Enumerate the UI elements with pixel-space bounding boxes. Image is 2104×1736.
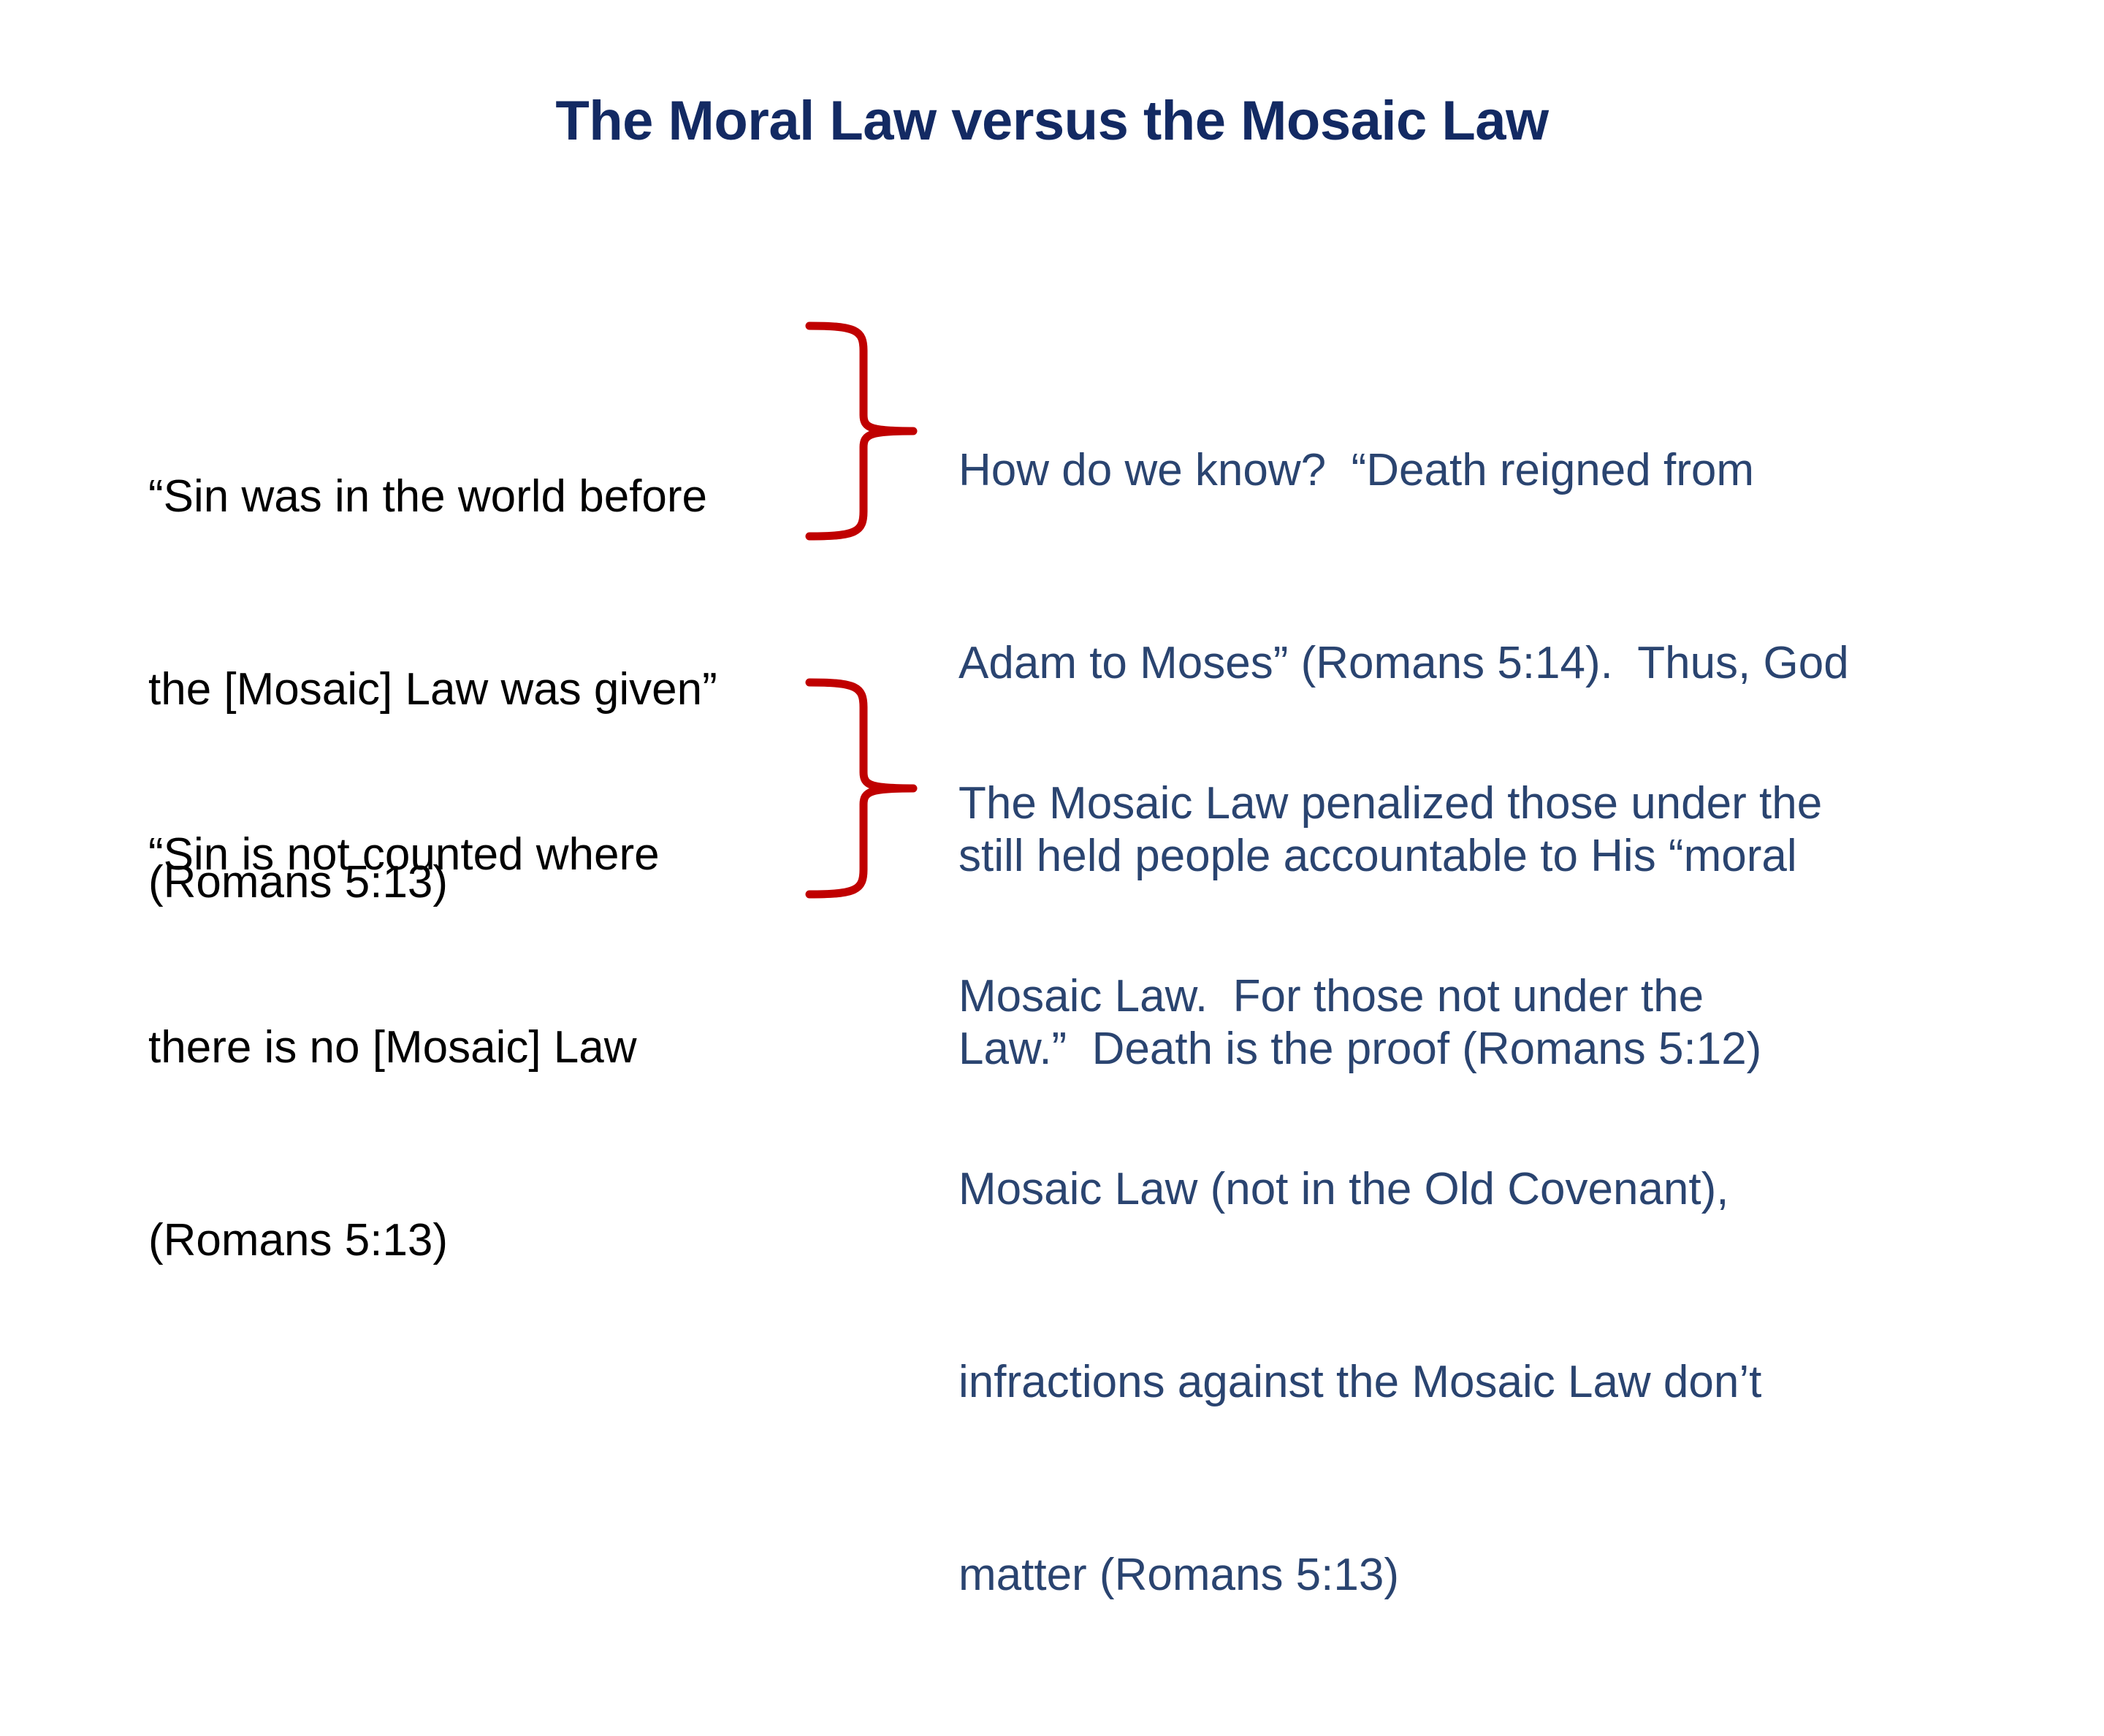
curly-brace-right-icon xyxy=(804,678,920,899)
text-line: “Sin is not counted where xyxy=(148,823,806,887)
curly-brace-right-icon-1 xyxy=(804,321,920,541)
curly-brace-right-icon xyxy=(804,321,920,541)
curly-brace-right-icon-2 xyxy=(804,678,920,899)
text-line: there is no [Mosaic] Law xyxy=(148,1016,806,1080)
text-line: Mosaic Law (not in the Old Covenant), xyxy=(958,1157,1930,1222)
text-line: The Mosaic Law penalized those under the xyxy=(958,772,1930,836)
text-line: “Sin was in the world before xyxy=(148,465,806,529)
right-explanation-block-2: The Mosaic Law penalized those under the… xyxy=(958,643,1930,1736)
text-line: Mosaic Law. For those not under the xyxy=(958,964,1930,1029)
text-line: How do we know? “Death reigned from xyxy=(958,438,1930,503)
left-quote-block-2: “Sin is not counted where there is no [M… xyxy=(148,694,806,1401)
text-line: matter (Romans 5:13) xyxy=(958,1543,1930,1607)
text-line: infractions against the Mosaic Law don’t xyxy=(958,1350,1930,1415)
slide-canvas: The Moral Law versus the Mosaic Law “Sin… xyxy=(0,0,2104,1052)
text-line: (Romans 5:13) xyxy=(148,1208,806,1273)
page-title: The Moral Law versus the Mosaic Law xyxy=(0,94,2104,149)
